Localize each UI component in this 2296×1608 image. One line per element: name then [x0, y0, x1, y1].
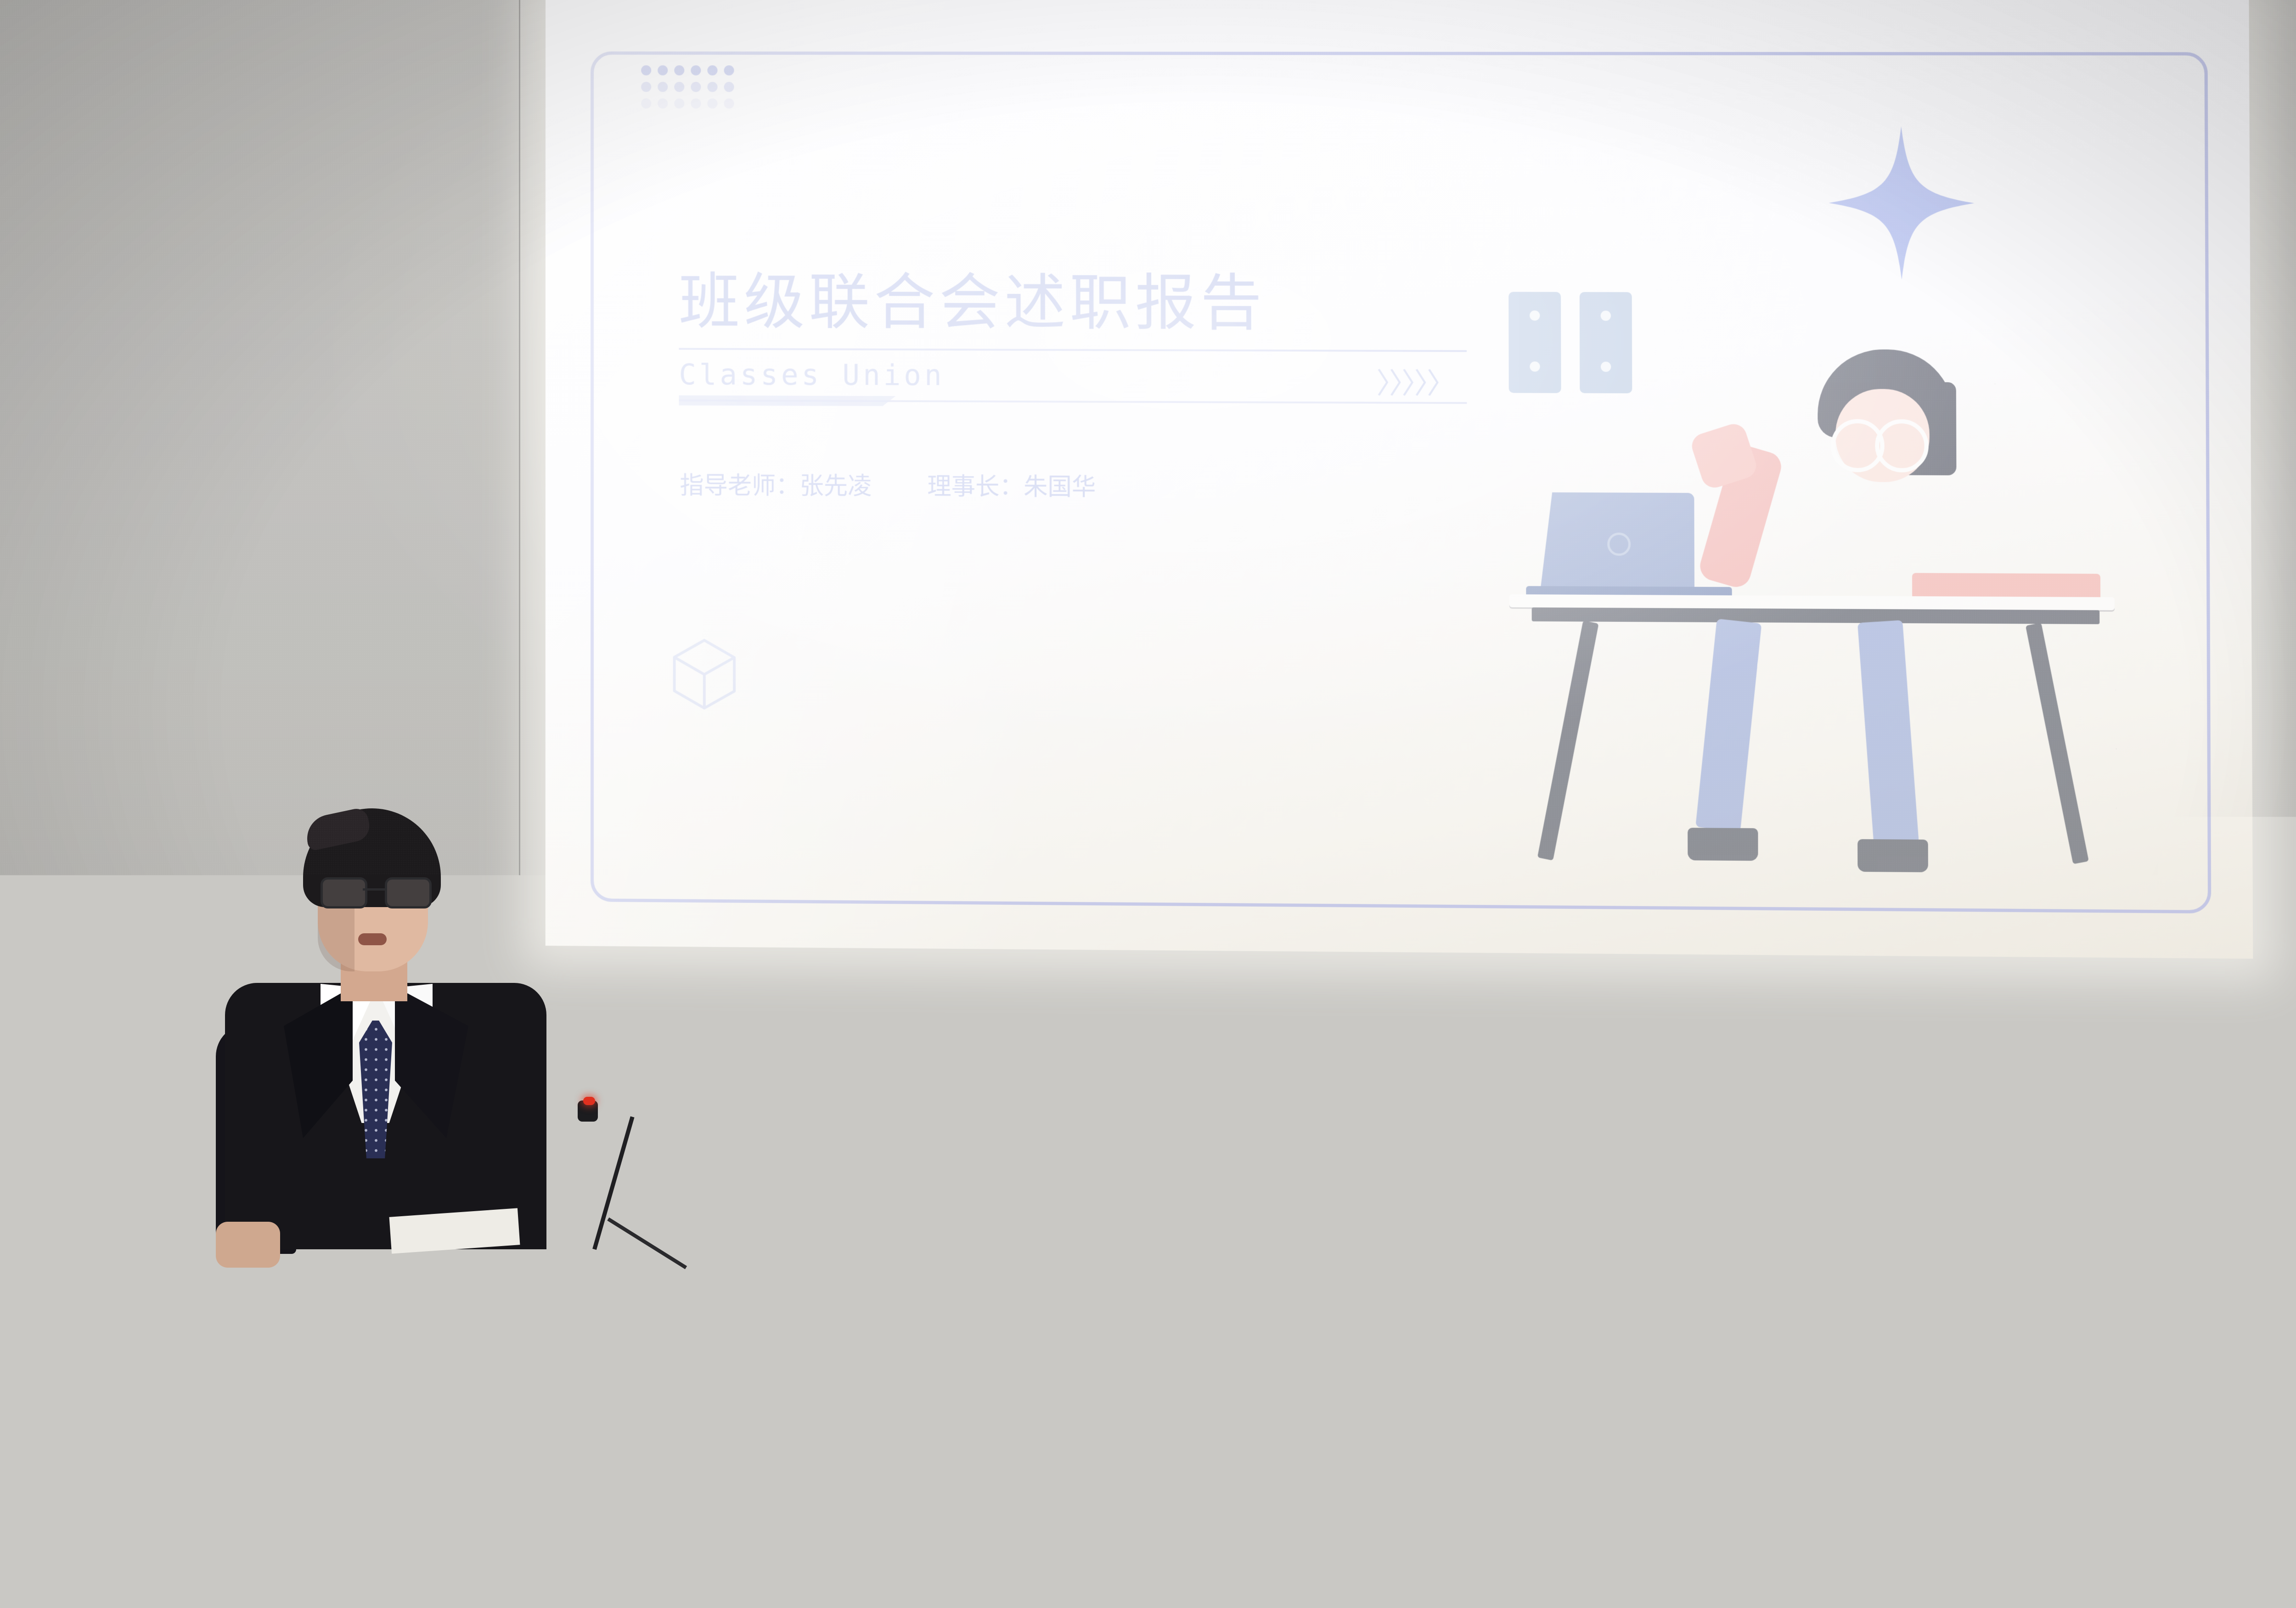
- slide-illustration: [1452, 274, 2120, 882]
- illustration-shoe-a: [1688, 828, 1758, 861]
- audience-shoulders-4: [1111, 1525, 1414, 1608]
- illustration-person-leg-b: [1857, 620, 1919, 846]
- title-accent-bar: [679, 395, 895, 406]
- audience-head-7: [0, 1488, 147, 1608]
- slide-title-block: 班级联合会述职报告 Classes Union 〉〉〉〉〉: [679, 268, 1514, 404]
- illustration-head: [1818, 349, 1954, 489]
- audience-smartphone[interactable]: [1521, 1428, 1583, 1559]
- credit-advisor: 指导老师：张先凌: [680, 466, 872, 501]
- slide-credits: 指导老师：张先凌 理事长：朱国华: [680, 466, 1096, 502]
- panelist-two-glasses-icon: [1854, 1175, 1919, 1178]
- podium-column-band: [276, 1286, 571, 1298]
- phone-screen-podium: [1542, 1511, 1568, 1540]
- illustration-person-leg-a: [1695, 619, 1761, 832]
- table-monitor-right: [1548, 1179, 1814, 1224]
- slide-subtitle-row: Classes Union 〉〉〉〉〉: [679, 350, 1467, 402]
- photo-scene: 班级联合会述职报告 Classes Union 〉〉〉〉〉 指导老师：张先凌 理…: [0, 0, 2296, 1608]
- speaker-mouth: [358, 933, 387, 945]
- panel-table-groove: [1029, 1355, 2080, 1365]
- wall-frame-left: [1508, 292, 1561, 393]
- illustration-laptop-logo: [1607, 532, 1631, 556]
- nameplate-left-band: [501, 1516, 606, 1540]
- panelist-one-glasses-icon: [1429, 1181, 1486, 1184]
- phone-screen-speaker: [1546, 1486, 1560, 1513]
- credit-chairman: 理事长：朱国华: [927, 467, 1096, 502]
- chevron-right-icon: 〉〉〉〉〉: [1376, 360, 1454, 402]
- table-control-grill: [1134, 1202, 1176, 1220]
- phone-screen: [1526, 1441, 1577, 1546]
- panel-table-ledge: [1029, 1222, 2080, 1246]
- slide-title: 班级联合会述职报告: [679, 268, 1513, 338]
- panel-table-divider-c: [1818, 1365, 1821, 1608]
- wall-seam-vertical-c: [740, 963, 742, 1376]
- wall-frame-right: [1580, 292, 1632, 394]
- illustration-desk-apron: [1532, 607, 2100, 624]
- panelist-two-hair: [1831, 1074, 1941, 1189]
- audience-shoulders-2: [634, 1534, 900, 1608]
- podium-top: [202, 1148, 629, 1238]
- illustration-glasses-right: [1875, 419, 1929, 473]
- projection-screen: 班级联合会述职报告 Classes Union 〉〉〉〉〉 指导老师：张先凌 理…: [546, 0, 2253, 959]
- university-logo-inner: [1948, 1522, 1954, 1528]
- illustration-desk-leg-left: [1537, 621, 1599, 861]
- illustration-shoe-b: [1857, 839, 1928, 872]
- podium-top-edge: [202, 1148, 629, 1158]
- speaker-glasses-icon: [321, 877, 427, 905]
- dot-grid-decoration: [641, 65, 741, 115]
- illustration-desk-leg-right: [2026, 623, 2089, 864]
- cube-icon: [670, 637, 739, 711]
- microphone-led-icon: [583, 1097, 595, 1105]
- slide-subtitle-en: Classes Union: [679, 358, 945, 392]
- table-monitor-left: [1254, 1186, 1391, 1223]
